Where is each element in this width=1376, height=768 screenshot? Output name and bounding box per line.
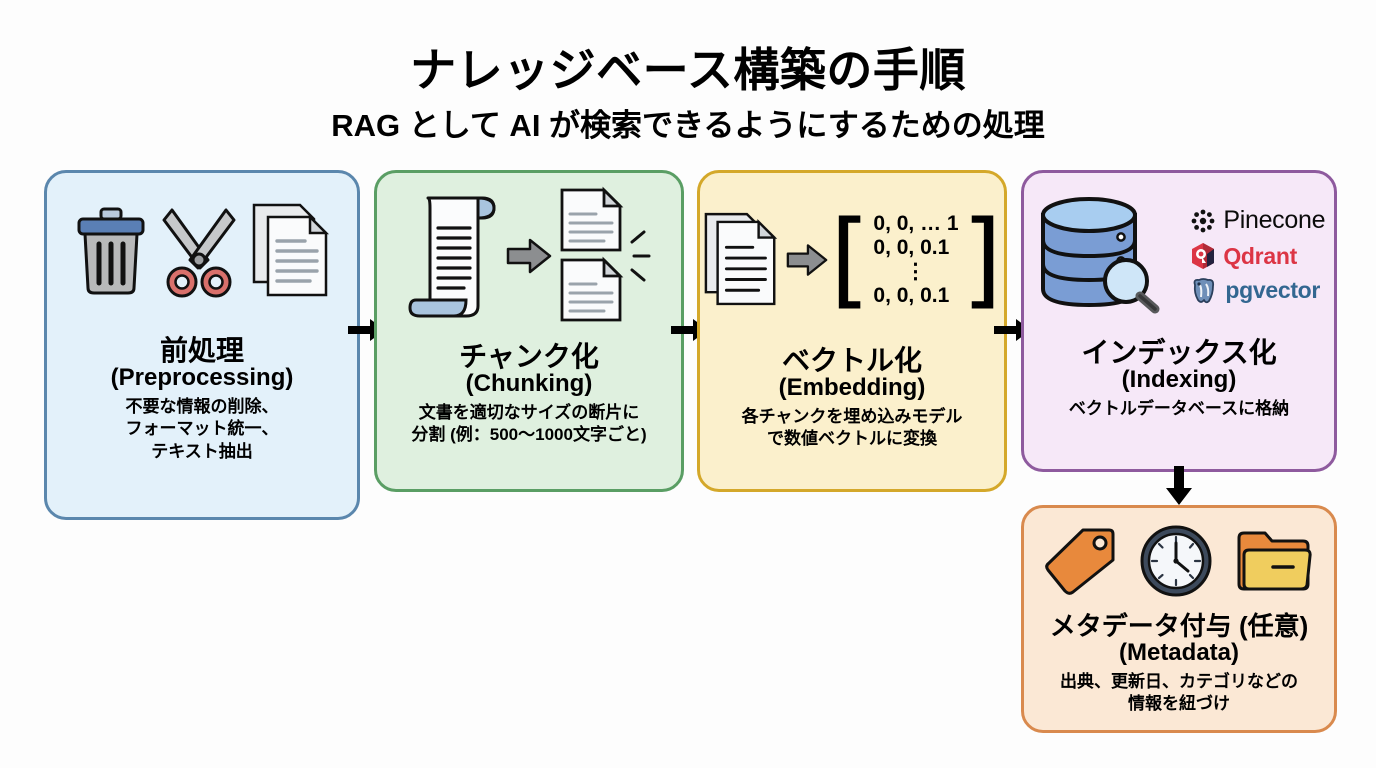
embedding-description: 各チャンクを埋め込みモデル で数値ベクトルに変換 bbox=[742, 406, 963, 451]
metadata-icon-group bbox=[1024, 518, 1334, 604]
vendor-pinecone-label: Pinecone bbox=[1223, 206, 1325, 235]
right-arrow-icon bbox=[506, 238, 552, 274]
matrix-rows: 0, 0, … 1 0, 0, 0.1 ⋮ 0, 0, 0.1 bbox=[870, 212, 961, 308]
indexing-label-en: (Indexing) bbox=[1122, 367, 1237, 393]
metadata-description: 出典、更新日、カテゴリなどの 情報を紐づけ bbox=[1060, 671, 1298, 716]
diagram-canvas: ナレッジベース構築の手順 RAG として AI が検索できるようにするための処理 bbox=[0, 0, 1376, 768]
connector-arrow-indexing-to-metadata bbox=[1164, 466, 1194, 506]
database-search-icon bbox=[1033, 193, 1163, 318]
step-box-metadata[interactable]: メタデータ付与 (任意) (Metadata) 出典、更新日、カテゴリなどの 情… bbox=[1021, 505, 1337, 733]
matrix-row-ellipsis: ⋮ bbox=[905, 260, 927, 284]
pgvector-logo-icon bbox=[1190, 277, 1218, 304]
chunking-label-en: (Chunking) bbox=[466, 371, 593, 397]
matrix-row-4: 0, 0, 0.1 bbox=[873, 284, 949, 308]
step-box-preprocessing[interactable]: 前処理 (Preprocessing) 不要な情報の削除、 フォーマット統一、 … bbox=[44, 170, 360, 520]
vendor-pinecone: Pinecone bbox=[1190, 206, 1325, 235]
folder-icon bbox=[1235, 528, 1315, 594]
vendor-qdrant-label: Qdrant bbox=[1223, 243, 1297, 270]
documents-icon bbox=[702, 206, 784, 314]
scissors-icon bbox=[156, 202, 242, 298]
step-box-embedding[interactable]: [ 0, 0, … 1 0, 0, 0.1 ⋮ 0, 0, 0.1 ] ベクトル… bbox=[697, 170, 1007, 492]
tag-icon bbox=[1043, 526, 1117, 596]
vendor-qdrant: Qdrant bbox=[1190, 242, 1325, 270]
pinecone-logo-icon bbox=[1190, 208, 1216, 234]
documents-icon bbox=[248, 200, 332, 300]
scroll-document-icon bbox=[406, 188, 502, 324]
metadata-label-en: (Metadata) bbox=[1119, 640, 1239, 666]
preprocessing-description: 不要な情報の削除、 フォーマット統一、 テキスト抽出 bbox=[126, 396, 279, 463]
indexing-description: ベクトルデータベースに格納 bbox=[1069, 398, 1289, 420]
clock-icon bbox=[1139, 524, 1213, 598]
step-box-indexing[interactable]: Pinecone Qdrant bbox=[1021, 170, 1337, 472]
chunking-label-jp: チャンク化 bbox=[459, 341, 599, 372]
step-box-chunking[interactable]: チャンク化 (Chunking) 文書を適切なサイズの断片に 分割 (例：500… bbox=[374, 170, 684, 492]
vendor-logo-list: Pinecone Qdrant bbox=[1190, 206, 1325, 304]
preprocessing-label-jp: 前処理 bbox=[160, 335, 244, 366]
embedding-icon-group: [ 0, 0, … 1 0, 0, 0.1 ⋮ 0, 0, 0.1 ] bbox=[700, 185, 1004, 335]
embedding-label-jp: ベクトル化 bbox=[782, 345, 922, 376]
qdrant-logo-icon bbox=[1190, 242, 1216, 270]
page-subtitle: RAG として AI が検索できるようにするための処理 bbox=[0, 100, 1376, 145]
vector-matrix-icon: [ 0, 0, … 1 0, 0, 0.1 ⋮ 0, 0, 0.1 ] bbox=[830, 212, 1002, 308]
matrix-bracket-left: [ bbox=[830, 219, 871, 300]
matrix-row-1: 0, 0, … 1 bbox=[873, 212, 958, 236]
chunking-description: 文書を適切なサイズの断片に 分割 (例：500〜1000文字ごと) bbox=[411, 402, 646, 447]
metadata-label-jp: メタデータ付与 (任意) bbox=[1050, 612, 1309, 641]
right-arrow-icon bbox=[786, 243, 828, 277]
page-title: ナレッジベース構築の手順 bbox=[0, 34, 1376, 100]
split-pages-icon bbox=[556, 186, 652, 326]
embedding-label-en: (Embedding) bbox=[779, 375, 926, 401]
trash-can-icon bbox=[72, 204, 150, 296]
matrix-row-2: 0, 0, 0.1 bbox=[873, 236, 949, 260]
vendor-pgvector-label: pgvector bbox=[1225, 277, 1320, 304]
preprocessing-label-en: (Preprocessing) bbox=[111, 365, 294, 391]
chunking-icon-group bbox=[377, 181, 681, 331]
preprocessing-icon-group bbox=[47, 183, 357, 317]
matrix-bracket-right: ] bbox=[962, 219, 1003, 300]
indexing-label-jp: インデックス化 bbox=[1081, 337, 1276, 368]
indexing-icon-group: Pinecone Qdrant bbox=[1024, 185, 1334, 325]
vendor-pgvector: pgvector bbox=[1190, 277, 1325, 304]
